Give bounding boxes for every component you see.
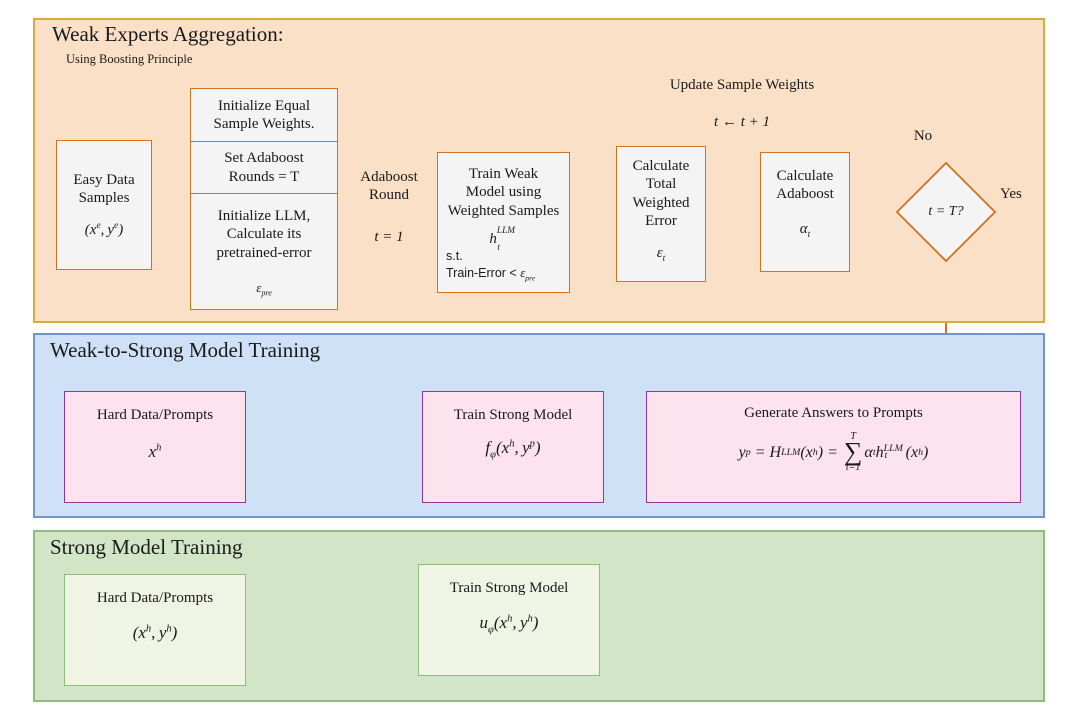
hard-data-green-title: Hard Data/Prompts [97,589,213,607]
label-branch-no: No [901,127,945,145]
calc-error-line1: Calculate [633,157,690,175]
train-strong-green-title: Train Strong Model [450,579,569,597]
label-adaboost-round-t: t = 1 [343,228,435,246]
label-branch-yes: Yes [1000,185,1044,203]
calc-error-line2: Total [646,175,677,193]
panel-weak-to-strong-title: Weak-to-Strong Model Training [50,340,320,361]
cell-initialize-llm: Initialize LLM, Calculate its pretrained… [191,193,337,309]
label-adaboost-round: Adaboost Round [343,168,435,204]
label-update-sample-weights: Update Sample Weights [592,76,892,94]
calc-error-formula: εt [657,244,666,262]
train-weak-line1: Train Weak [469,165,538,183]
easy-data-formula: (xe, ye) [85,221,123,239]
hard-data-blue-title: Hard Data/Prompts [97,406,213,424]
train-weak-line3: Weighted Samples [448,202,560,220]
calc-error-line4: Error [645,212,677,230]
init-llm-line2: Calculate its [227,225,302,243]
panel-aggregation-subtitle: Using Boosting Principle [66,53,192,66]
node-calculate-adaboost-alpha: Calculate Adaboost αt [760,152,850,272]
calc-alpha-formula: αt [800,220,810,238]
easy-data-title-line1: Easy Data [73,171,134,189]
node-hard-data-prompts-green: Hard Data/Prompts (xh, yh) [64,574,246,686]
train-strong-blue-formula: fφ(xh, yp) [485,438,540,459]
node-decision-t-equals-T: t = T? [895,161,997,263]
node-calculate-total-weighted-error: Calculate Total Weighted Error εt [616,146,706,282]
calc-alpha-line2: Adaboost [776,185,834,203]
panel-strong-model-title: Strong Model Training [50,537,243,558]
set-rounds-line1: Set Adaboost [224,149,304,167]
generate-formula: yp = HLLM(xh) = T ∑ t=1 αthLLMt(xh) [739,432,929,473]
init-weights-line1: Initialize Equal [218,97,310,115]
set-rounds-line2: Rounds = T [229,168,300,186]
hard-data-blue-formula: xh [149,442,162,463]
label-increment-t: t ← t + 1 [592,113,892,131]
train-weak-line2: Model using [466,183,541,201]
node-generate-answers-to-prompts: Generate Answers to Prompts yp = HLLM(xh… [646,391,1021,503]
train-strong-blue-title: Train Strong Model [454,406,573,424]
node-initialization-stack: Initialize Equal Sample Weights. Set Ada… [190,88,338,310]
node-easy-data-samples: Easy Data Samples (xe, ye) [56,140,152,270]
decision-label: t = T? [895,204,997,220]
node-hard-data-prompts-blue: Hard Data/Prompts xh [64,391,246,503]
constraint-line2: Train-Error < εpre [446,266,535,280]
init-llm-formula: εpre [256,280,272,296]
calc-error-line3: Weighted [632,194,689,212]
adaboost-round-line1: Adaboost [360,169,418,185]
node-train-strong-model-green: Train Strong Model uφ(xh, yh) [418,564,600,676]
train-strong-green-formula: uφ(xh, yh) [480,613,539,634]
hard-data-green-formula: (xh, yh) [133,623,178,644]
generate-title: Generate Answers to Prompts [744,404,923,422]
sum-lower-limit: t=1 [846,463,861,473]
cell-set-adaboost-rounds: Set Adaboost Rounds = T [191,141,337,193]
init-weights-line2: Sample Weights. [213,115,314,133]
calc-alpha-line1: Calculate [777,167,834,185]
init-llm-line1: Initialize LLM, [218,207,310,225]
constraint-line1: s.t. [446,249,463,263]
init-llm-line3: pretrained-error [217,244,312,262]
diagram-canvas: Weak Experts Aggregation: Using Boosting… [0,0,1076,718]
node-train-strong-model-blue: Train Strong Model fφ(xh, yp) [422,391,604,503]
adaboost-round-line2: Round [369,187,409,203]
train-weak-formula: hLLMt [489,230,517,248]
panel-aggregation-title: Weak Experts Aggregation: [52,24,284,45]
easy-data-title-line2: Samples [79,189,130,207]
cell-initialize-equal-weights: Initialize Equal Sample Weights. [191,89,337,141]
train-weak-constraint: s.t. Train-Error < εpre [446,248,566,282]
